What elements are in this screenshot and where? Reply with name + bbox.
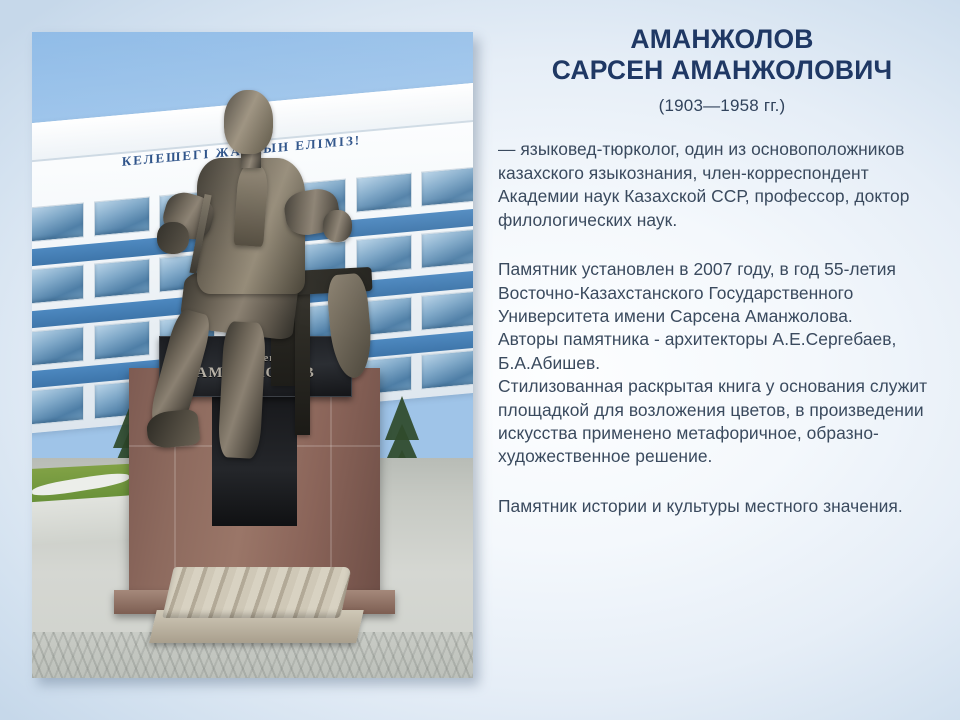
title-given-patronymic: САРСЕН АМАНЖОЛОВИЧ — [504, 55, 940, 86]
life-dates: (1903—1958 гг.) — [504, 96, 940, 116]
statue-left-hand — [157, 222, 189, 254]
monument-photo-frame: КЕЛЕШЕГІ ЖАРҚЫН ЕЛІМІЗ! — [32, 32, 473, 678]
title-surname: АМАНЖОЛОВ — [504, 24, 940, 55]
window — [32, 385, 84, 426]
window — [421, 349, 473, 390]
window — [94, 196, 150, 237]
heritage-status-paragraph: Памятник истории и культуры местного зна… — [498, 495, 946, 518]
statue-chair-leg — [295, 290, 310, 434]
window — [94, 320, 150, 361]
statue-leg — [218, 321, 267, 459]
biography-paragraph: — языковед-тюрколог, один из основополож… — [498, 138, 946, 232]
statue-head — [224, 90, 273, 154]
window — [421, 290, 473, 331]
text-column: АМАНЖОЛОВ САРСЕН АМАНЖОЛОВИЧ (1903—1958 … — [498, 24, 946, 696]
bronze-statue-amanzholov — [142, 90, 389, 491]
statue-suit-lapel — [233, 165, 268, 247]
window — [421, 166, 473, 207]
window — [32, 264, 84, 305]
statue-right-hand — [323, 210, 353, 242]
page-title: АМАНЖОЛОВ САРСЕН АМАНЖОЛОВИЧ (1903—1958 … — [498, 24, 946, 116]
monument-description-paragraph: Памятник установлен в 2007 году, в год 5… — [498, 258, 946, 469]
monument-photo: КЕЛЕШЕГІ ЖАРҚЫН ЕЛІМІЗ! — [32, 32, 473, 678]
slide-canvas: КЕЛЕШЕГІ ЖАРҚЫН ЕЛІМІЗ! — [0, 0, 960, 720]
window — [94, 258, 150, 299]
stone-open-book-sculpture — [164, 565, 349, 643]
book-pages — [162, 567, 352, 618]
window — [421, 228, 473, 269]
window — [32, 326, 84, 367]
window — [32, 202, 84, 243]
